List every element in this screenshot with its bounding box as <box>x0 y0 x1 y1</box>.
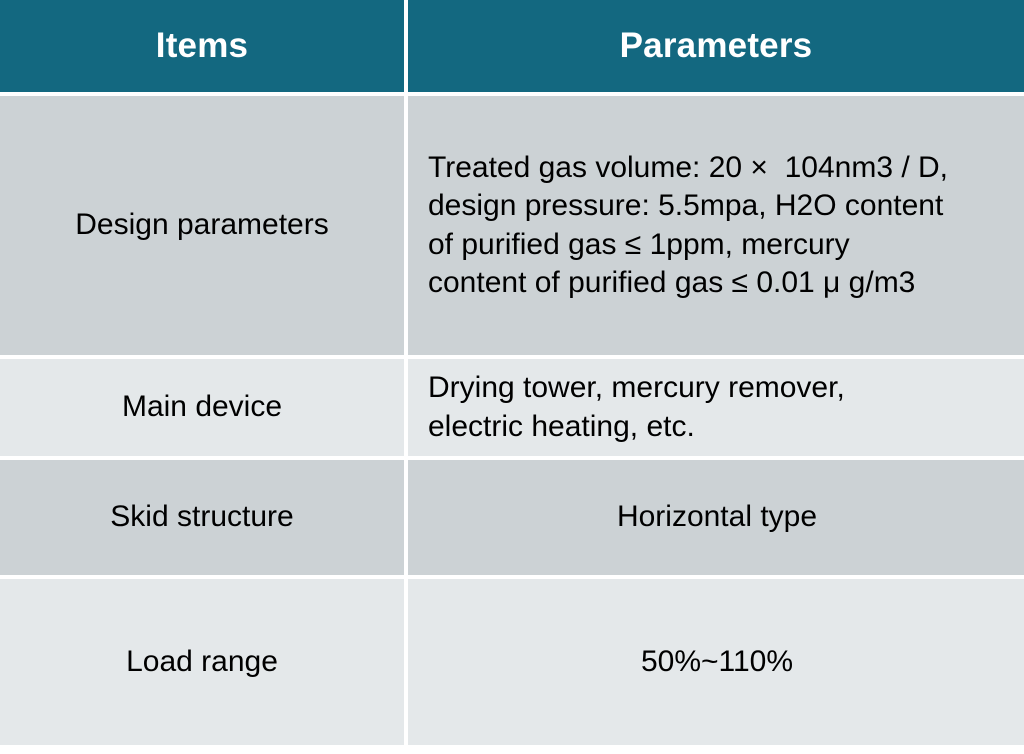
row-parameter-value: Horizontal type <box>408 460 1024 575</box>
row-parameter-value: 50%~110% <box>408 579 1024 745</box>
table-row: Load range 50%~110% <box>0 579 1024 745</box>
column-header-parameters: Parameters <box>408 0 1024 92</box>
parameter-line: of purified gas ≤ 1ppm, mercury <box>428 226 948 264</box>
parameter-text: Horizontal type <box>617 498 817 536</box>
parameter-line: content of purified gas ≤ 0.01 μ g/m3 <box>428 264 948 302</box>
parameter-line: Horizontal type <box>617 498 817 536</box>
parameter-line: Drying tower, mercury remover, <box>428 369 845 407</box>
column-header-items: Items <box>0 0 404 92</box>
row-item-label: Main device <box>0 359 404 456</box>
parameter-line: electric heating, etc. <box>428 408 845 446</box>
row-item-label: Design parameters <box>0 96 404 355</box>
row-item-label: Skid structure <box>0 460 404 575</box>
parameter-line: design pressure: 5.5mpa, H2O content <box>428 187 948 225</box>
parameter-line: 50%~110% <box>641 643 793 681</box>
table-row: Design parameters Treated gas volume: 20… <box>0 96 1024 355</box>
table-row: Skid structure Horizontal type <box>0 460 1024 575</box>
parameter-text: Drying tower, mercury remover, electric … <box>428 369 845 446</box>
parameters-table: Items Parameters Design parameters Treat… <box>0 0 1024 754</box>
parameter-text: 50%~110% <box>641 643 793 681</box>
row-parameter-value: Treated gas volume: 20 × 104nm3 / D, des… <box>408 96 1024 355</box>
table-row: Main device Drying tower, mercury remove… <box>0 359 1024 456</box>
row-parameter-value: Drying tower, mercury remover, electric … <box>408 359 1024 456</box>
table-header-row: Items Parameters <box>0 0 1024 92</box>
parameter-line: Treated gas volume: 20 × 104nm3 / D, <box>428 149 948 187</box>
parameter-text: Treated gas volume: 20 × 104nm3 / D, des… <box>428 149 948 303</box>
table-bottom-margin <box>0 745 1024 754</box>
row-item-label: Load range <box>0 579 404 745</box>
